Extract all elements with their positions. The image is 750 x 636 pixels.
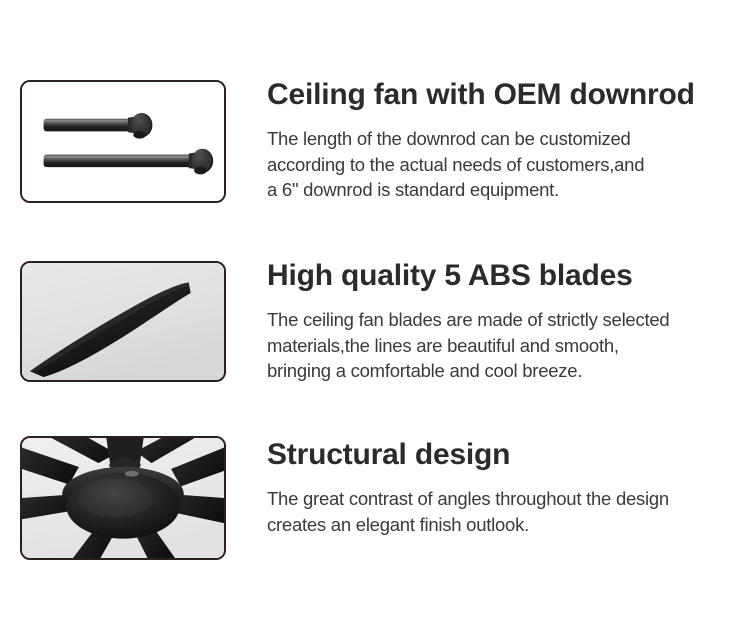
feature-description-line: according to the actual needs of custome…: [267, 152, 740, 178]
feature-text-downrod: Ceiling fan with OEM downrod The length …: [267, 80, 750, 203]
feature-description-line: bringing a comfortable and cool breeze.: [267, 358, 740, 384]
feature-title: High quality 5 ABS blades: [267, 259, 740, 293]
feature-title: Structural design: [267, 438, 740, 472]
feature-row-downrod: Ceiling fan with OEM downrod The length …: [0, 80, 750, 203]
feature-text-blades: High quality 5 ABS blades The ceiling fa…: [267, 261, 750, 384]
feature-title: Ceiling fan with OEM downrod: [267, 78, 740, 112]
feature-description-line: The length of the downrod can be customi…: [267, 126, 740, 152]
feature-text-structure: Structural design The great contrast of …: [267, 436, 750, 537]
feature-description-line: materials,the lines are beautiful and sm…: [267, 333, 740, 359]
feature-row-structure: Structural design The great contrast of …: [0, 436, 750, 560]
fan-blade-photo: [20, 261, 226, 382]
product-feature-page: Ceiling fan with OEM downrod The length …: [0, 0, 750, 636]
feature-description-line: The ceiling fan blades are made of stric…: [267, 307, 740, 333]
feature-description-line: The great contrast of angles throughout …: [267, 486, 740, 512]
feature-description-line: a 6" downrod is standard equipment.: [267, 177, 740, 203]
fan-motor-housing-photo: [20, 436, 226, 560]
feature-row-blades: High quality 5 ABS blades The ceiling fa…: [0, 261, 750, 384]
fan-housing-illustration: [22, 438, 224, 558]
feature-description-line: creates an elegant finish outlook.: [267, 512, 740, 538]
feature-description: The ceiling fan blades are made of stric…: [267, 307, 740, 384]
downrod-illustration: [22, 82, 224, 201]
downrod-pair-photo: [20, 80, 226, 203]
fan-blade-illustration: [22, 263, 224, 380]
feature-description: The great contrast of angles throughout …: [267, 486, 740, 537]
feature-description: The length of the downrod can be customi…: [267, 126, 740, 203]
